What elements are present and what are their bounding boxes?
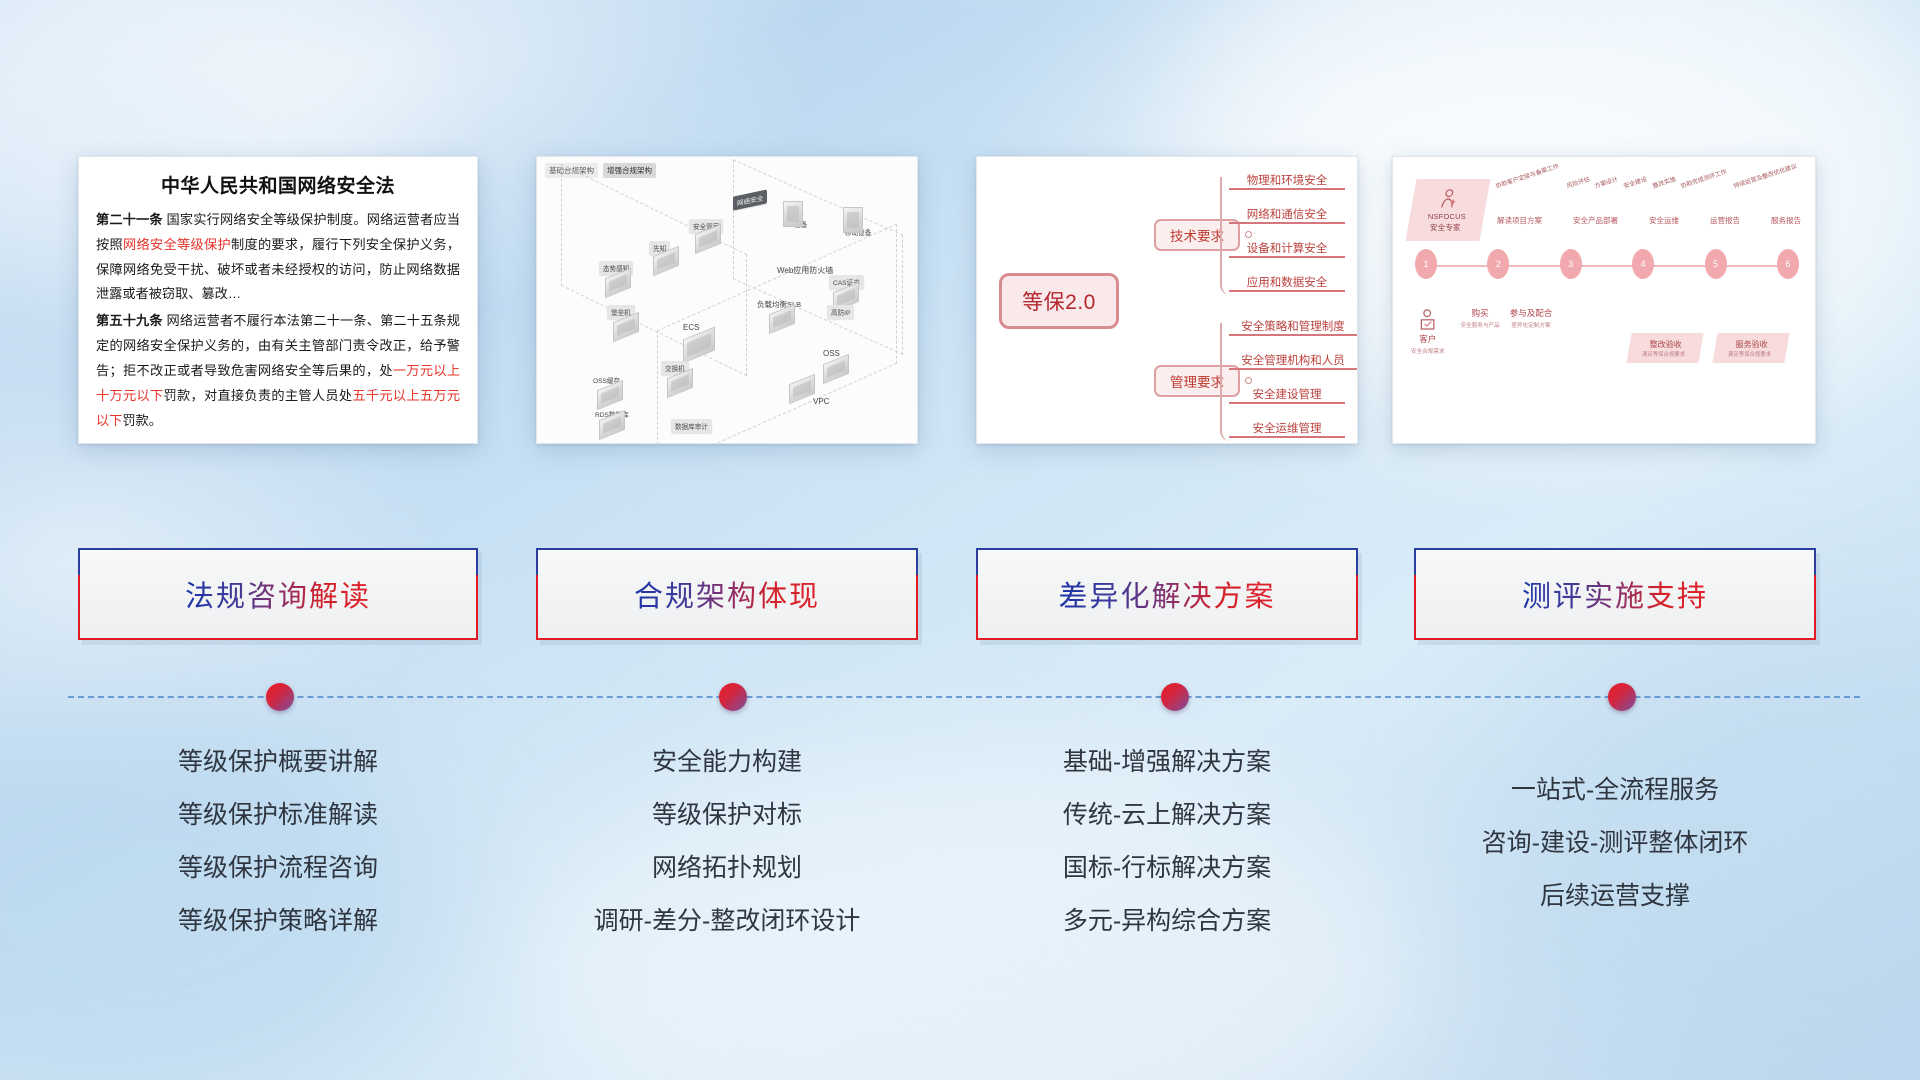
bullet-column-regulation: 等级保护概要讲解 等级保护标准解读 等级保护流程咨询 等级保护策略详解: [78, 750, 478, 962]
timeline-step: 4: [1632, 249, 1654, 279]
service-timeline: NSFOCUS 安全专家 协助客户定级与备案工作 风险评估 方案设计 安全建设 …: [1393, 157, 1815, 443]
footer-item: 购买 安全服务与产品: [1461, 307, 1500, 329]
mindmap-leaf: 安全策略和管理制度: [1229, 311, 1357, 336]
timeline-marker-dot[interactable]: [719, 683, 747, 711]
timeline-footer-row: 客户 安全合规需求 购买 安全服务与产品 参与及配合 差异化定制方案: [1411, 307, 1552, 355]
timeline-subheader: 服务报告: [1771, 215, 1801, 226]
mindmap-root: 等保2.0: [999, 273, 1119, 329]
timeline-header: 安全建设: [1622, 174, 1648, 190]
mindmap-leaf: 安全建设管理: [1229, 379, 1345, 404]
customer-sublabel: 安全合规需求: [1411, 347, 1445, 355]
timeline-step: 2: [1487, 249, 1509, 279]
nsfocus-badge-line1: NSFOCUS: [1428, 212, 1466, 221]
law-text: 罚款。: [122, 413, 162, 428]
timeline-header: 持续运营及整改优化建议: [1732, 161, 1798, 190]
timeline-dashed-line: [68, 696, 1860, 698]
bullet-column-assessment: 一站式-全流程服务 咨询-建设-测评整体闭环 后续运营支撑: [1414, 778, 1816, 937]
diagram-cube-icon: [843, 207, 863, 233]
footer-tag-sub: 满足等保合规要求: [1642, 350, 1685, 358]
law-highlight: 网络安全等级保护: [123, 237, 231, 252]
bullet-column-solution: 基础-增强解决方案 传统-云上解决方案 国标-行标解决方案 多元-异构综合方案: [976, 750, 1358, 962]
timeline-subheader: 安全运维: [1649, 215, 1679, 226]
timeline-subheader-row: 解读项目方案 安全产品部署 安全运维 运营报告 服务报告: [1497, 215, 1801, 226]
list-item: 国标-行标解决方案: [976, 856, 1358, 881]
list-item: 安全能力构建: [536, 750, 918, 775]
timeline-header: 整改实施: [1651, 174, 1677, 190]
footer-item: 参与及配合 差异化定制方案: [1510, 307, 1553, 329]
nsfocus-badge-line2: 安全专家: [1430, 222, 1461, 233]
timeline-header: 协助客户定级与备案工作: [1494, 161, 1560, 190]
diagram-cube-icon: [783, 201, 803, 227]
mindmap: 等保2.0 技术要求 物理和环境安全 网络和通信安全 设备和计算安全 应用和数据…: [977, 157, 1357, 443]
image-cards-row: 中华人民共和国网络安全法 第二十一条 国家实行网络安全等级保护制度。网络运营者应…: [0, 0, 1920, 460]
list-item: 等级保护对标: [536, 803, 918, 828]
section-header-label: 法规咨询解读: [185, 573, 371, 615]
timeline-marker-dot[interactable]: [1161, 683, 1189, 711]
list-item: 等级保护流程咨询: [78, 856, 478, 881]
footer-item-sub: 差异化定制方案: [1511, 321, 1550, 329]
section-headers-row: 法规咨询解读 合规架构体现 差异化解决方案 测评实施支持: [0, 548, 1920, 640]
timeline-marker-dot[interactable]: [266, 683, 294, 711]
list-item: 一站式-全流程服务: [1414, 778, 1816, 803]
law-title: 中华人民共和国网络安全法: [96, 171, 460, 198]
nsfocus-expert-badge: NSFOCUS 安全专家: [1406, 179, 1491, 241]
law-body: 中华人民共和国网络安全法 第二十一条 国家实行网络安全等级保护制度。网络运营者应…: [79, 157, 477, 443]
section-header-label: 差异化解决方案: [1058, 573, 1275, 615]
card-architecture-diagram: 基础合规架构 增强合规架构 网络安全 安全管家 先知 态势感知 堡垒机 ECS …: [536, 156, 918, 444]
diagram-node: 高防IP: [827, 305, 854, 319]
diagram-tab-enhanced[interactable]: 增强合规架构: [603, 163, 656, 178]
timeline-step: 1: [1415, 249, 1437, 279]
timeline-step: 3: [1560, 249, 1582, 279]
card-mindmap: 等保2.0 技术要求 物理和环境安全 网络和通信安全 设备和计算安全 应用和数据…: [976, 156, 1358, 444]
footer-item-title: 参与及配合: [1510, 307, 1553, 319]
section-header-assessment-support[interactable]: 测评实施支持: [1414, 548, 1816, 640]
law-article-number: 第二十一条: [96, 212, 163, 227]
timeline-header: 协助完成测评工作: [1680, 167, 1728, 190]
timeline-connector: [68, 696, 1860, 698]
timeline-header: 方案设计: [1594, 174, 1620, 190]
mindmap-leaf: 设备和计算安全: [1229, 233, 1345, 258]
card-law-text: 中华人民共和国网络安全法 第二十一条 国家实行网络安全等级保护制度。网络运营者应…: [78, 156, 478, 444]
list-item: 等级保护概要讲解: [78, 750, 478, 775]
timeline-step: 5: [1705, 249, 1727, 279]
timeline-subheader: 解读项目方案: [1497, 215, 1542, 226]
law-article-number: 第五十九条: [96, 313, 163, 328]
list-item: 后续运营支撑: [1414, 884, 1816, 909]
mindmap-leaf: 安全管理机构和人员: [1229, 345, 1357, 370]
timeline-header-row: 协助客户定级与备案工作 风险评估 方案设计 安全建设 整改实施 协助完成测评工作…: [1497, 181, 1801, 190]
list-item: 传统-云上解决方案: [976, 803, 1358, 828]
timeline-marker-dot[interactable]: [1608, 683, 1636, 711]
diagram-node: 数据库审计: [671, 419, 712, 433]
customer-label: 客户: [1419, 333, 1436, 345]
customer-block: 客户 安全合规需求: [1411, 307, 1445, 355]
card-service-timeline: NSFOCUS 安全专家 协助客户定级与备案工作 风险评估 方案设计 安全建设 …: [1392, 156, 1816, 444]
section-header-label: 测评实施支持: [1522, 573, 1708, 615]
footer-tag-title: 整改验收: [1650, 339, 1682, 350]
list-item: 等级保护策略详解: [78, 909, 478, 934]
mindmap-leaf: 物理和环境安全: [1229, 165, 1345, 190]
footer-tag-sub: 满足等保合规要求: [1728, 350, 1771, 358]
footer-tag-title: 服务验收: [1736, 339, 1768, 350]
list-item: 等级保护标准解读: [78, 803, 478, 828]
diagram-node: Web应用防火墙: [773, 263, 837, 278]
timeline-header: 风险评估: [1565, 174, 1591, 190]
timeline-subheader: 运营报告: [1710, 215, 1740, 226]
mindmap-leaf: 安全运维管理: [1229, 413, 1345, 438]
law-paragraph-59: 第五十九条 网络运营者不履行本法第二十一条、第二十五条规定的网络安全保护义务的，…: [96, 309, 460, 433]
person-star-icon: [1438, 187, 1462, 211]
section-header-differentiated-solution[interactable]: 差异化解决方案: [976, 548, 1358, 640]
footer-tag: 服务验收 满足等保合规要求: [1712, 333, 1789, 363]
section-header-compliance-architecture[interactable]: 合规架构体现: [536, 548, 918, 640]
diagram-node: VPC: [809, 395, 833, 408]
list-item: 咨询-建设-测评整体闭环: [1414, 831, 1816, 856]
mindmap-leaf: 网络和通信安全: [1229, 199, 1345, 224]
timeline-steps: 1 2 3 4 5 6: [1415, 249, 1799, 279]
section-header-label: 合规架构体现: [634, 573, 820, 615]
section-header-regulation-consulting[interactable]: 法规咨询解读: [78, 548, 478, 640]
footer-item-sub: 安全服务与产品: [1461, 321, 1500, 329]
law-text: 罚款，对直接负责的主管人员处: [163, 388, 352, 403]
list-item: 调研-差分-整改闭环设计: [536, 909, 918, 934]
list-item: 多元-异构综合方案: [976, 909, 1358, 934]
bullet-column-architecture: 安全能力构建 等级保护对标 网络拓扑规划 调研-差分-整改闭环设计: [536, 750, 918, 962]
list-item: 基础-增强解决方案: [976, 750, 1358, 775]
law-paragraph-21: 第二十一条 国家实行网络安全等级保护制度。网络运营者应当按照网络安全等级保护制度…: [96, 208, 460, 307]
footer-tag: 整改验收 满足等保合规要求: [1626, 333, 1703, 363]
list-item: 网络拓扑规划: [536, 856, 918, 881]
customer-icon: [1418, 307, 1438, 331]
timeline-subheader: 安全产品部署: [1573, 215, 1618, 226]
mindmap-leaf: 应用和数据安全: [1229, 267, 1345, 292]
architecture-diagram: 基础合规架构 增强合规架构 网络安全 安全管家 先知 态势感知 堡垒机 ECS …: [537, 157, 917, 443]
footer-item-title: 购买: [1472, 307, 1489, 319]
timeline-step: 6: [1777, 249, 1799, 279]
